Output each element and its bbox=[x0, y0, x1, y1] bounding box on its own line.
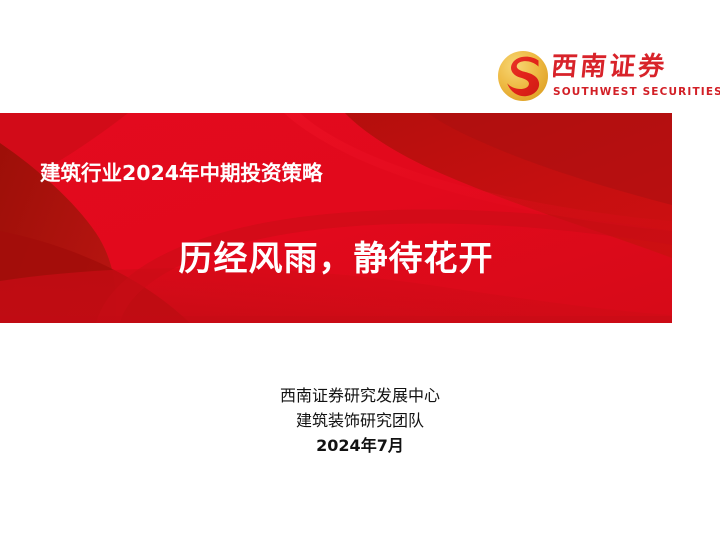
southwest-securities-logo-mark-icon bbox=[497, 50, 549, 102]
logo-wordmark-chinese-text: 西南证券 bbox=[553, 52, 669, 82]
logo-wordmark-english: SOUTHWEST SECURITIES bbox=[553, 86, 693, 98]
company-logo: 西南证券 SOUTHWEST SECURITIES bbox=[497, 48, 693, 108]
banner-headline: 历经风雨，静待花开 bbox=[0, 231, 672, 280]
slide-canvas: 西南证券 SOUTHWEST SECURITIES bbox=[0, 0, 720, 540]
banner-decorative-waves bbox=[0, 113, 672, 323]
footer-date: 2024年7月 bbox=[0, 433, 720, 458]
footer-block: 西南证券研究发展中心 建筑装饰研究团队 2024年7月 bbox=[0, 383, 720, 458]
footer-team: 建筑装饰研究团队 bbox=[0, 408, 720, 433]
logo-wordmark-chinese: 西南证券 bbox=[553, 50, 693, 82]
title-banner: 建筑行业2024年中期投资策略 历经风雨，静待花开 bbox=[0, 113, 672, 323]
footer-institution: 西南证券研究发展中心 bbox=[0, 383, 720, 408]
banner-subtitle: 建筑行业2024年中期投资策略 bbox=[40, 156, 323, 186]
